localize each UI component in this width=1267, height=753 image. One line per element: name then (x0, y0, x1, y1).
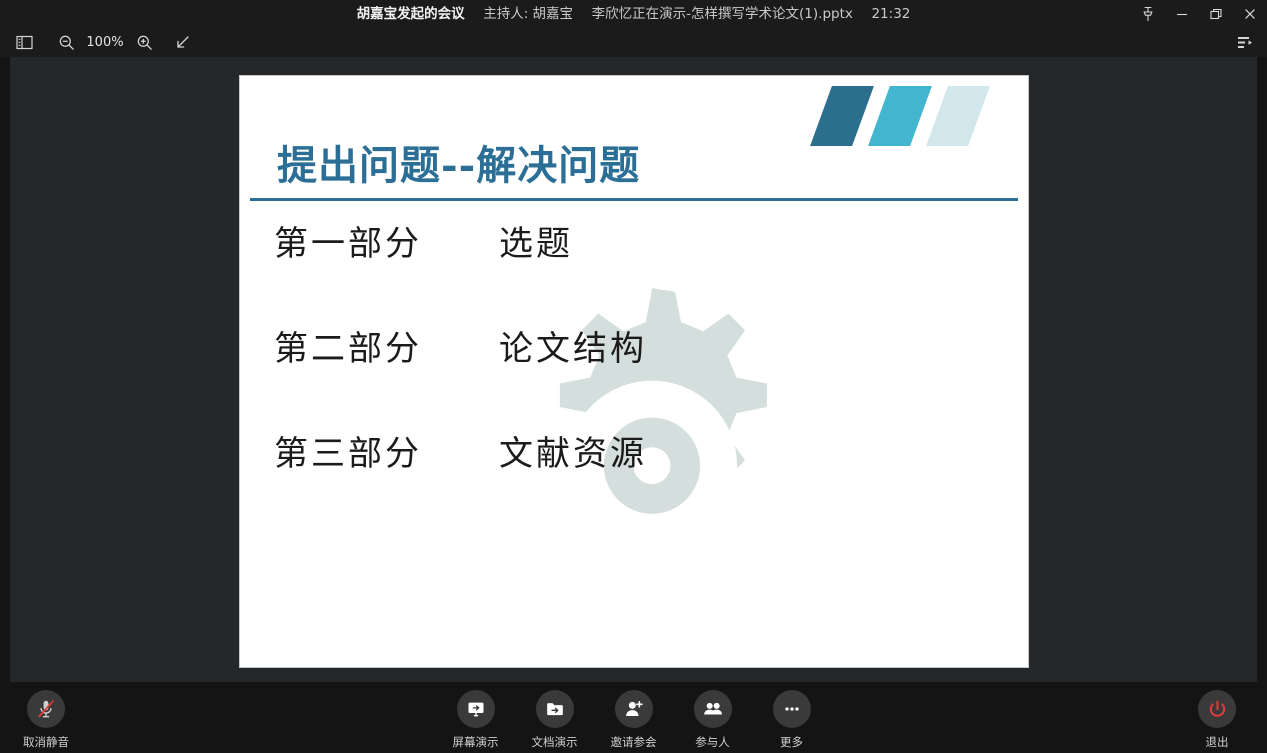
ellipsis-icon (773, 690, 811, 728)
restore-icon[interactable] (1199, 0, 1233, 28)
slide-row-value: 选题 (499, 216, 573, 265)
close-icon[interactable] (1233, 0, 1267, 28)
zoom-level-label: 100% (80, 35, 130, 50)
slide-row-label: 第一部分 (274, 216, 499, 265)
title-bar: 胡嘉宝发起的会议 主持人: 胡嘉宝 李欣忆正在演示-怎样撰写学术论文(1).pp… (0, 0, 1267, 28)
exit-label: 退出 (1206, 734, 1229, 750)
bar-dark (810, 86, 874, 146)
zoom-in-icon[interactable] (130, 28, 158, 57)
folder-share-icon (536, 690, 574, 728)
bar-light (926, 86, 990, 146)
meeting-title: 胡嘉宝发起的会议 (357, 6, 465, 22)
toolbar-right (1231, 28, 1259, 57)
participants-button[interactable]: 参与人 (681, 690, 745, 750)
list-collapse-icon[interactable] (1231, 28, 1259, 57)
shrink-arrow-icon[interactable] (168, 28, 196, 57)
minimize-icon[interactable] (1165, 0, 1199, 28)
pin-icon[interactable] (1131, 0, 1165, 28)
stage-wrapper: 提出问题--解决问题 第一部分 选题 第二部分 论文结构 第三 (0, 57, 1267, 682)
bar-medium (868, 86, 932, 146)
invite-label: 邀请参会 (611, 734, 657, 750)
view-toolbar: 100% (0, 28, 1267, 57)
window-controls (1131, 0, 1267, 28)
more-label: 更多 (780, 734, 803, 750)
screen-share-label: 屏幕演示 (453, 734, 499, 750)
screen-share-icon (457, 690, 495, 728)
document-share-button[interactable]: 文档演示 (523, 690, 587, 750)
presentation-stage: 提出问题--解决问题 第一部分 选题 第二部分 论文结构 第三 (10, 57, 1257, 682)
document-share-label: 文档演示 (532, 734, 578, 750)
slide-row-label: 第三部分 (274, 426, 499, 475)
slide-row-value: 文献资源 (499, 426, 647, 475)
slide-row: 第二部分 论文结构 (240, 321, 1028, 426)
meeting-window: 胡嘉宝发起的会议 主持人: 胡嘉宝 李欣忆正在演示-怎样撰写学术论文(1).pp… (0, 0, 1267, 753)
slide-body: 第一部分 选题 第二部分 论文结构 第三部分 文献资源 (240, 216, 1028, 531)
more-button[interactable]: 更多 (760, 690, 824, 750)
meeting-control-bar: 取消静音 屏幕演示 (0, 682, 1267, 753)
exit-control: 退出 (1185, 690, 1249, 750)
exit-button[interactable]: 退出 (1185, 690, 1249, 750)
sidebar-icon[interactable] (10, 28, 38, 57)
people-icon (694, 690, 732, 728)
meeting-host: 主持人: 胡嘉宝 (483, 6, 573, 22)
zoom-out-icon[interactable] (52, 28, 80, 57)
participants-label: 参与人 (695, 734, 730, 750)
slanted-bars-decoration (821, 86, 1001, 146)
meeting-actions: 屏幕演示 文档演示 (0, 690, 1267, 750)
slide-title-rule (250, 198, 1018, 201)
slide-canvas[interactable]: 提出问题--解决问题 第一部分 选题 第二部分 论文结构 第三 (239, 75, 1029, 668)
person-add-icon (615, 690, 653, 728)
presenting-file: 李欣忆正在演示-怎样撰写学术论文(1).pptx (592, 6, 853, 22)
power-icon (1198, 690, 1236, 728)
slide-row: 第三部分 文献资源 (240, 426, 1028, 531)
invite-button[interactable]: 邀请参会 (602, 690, 666, 750)
slide-row-value: 论文结构 (499, 321, 647, 370)
screen-share-button[interactable]: 屏幕演示 (444, 690, 508, 750)
slide-row: 第一部分 选题 (240, 216, 1028, 321)
meeting-time: 21:32 (871, 6, 910, 22)
slide-title: 提出问题--解决问题 (277, 133, 640, 191)
slide-row-label: 第二部分 (274, 321, 499, 370)
window-title: 胡嘉宝发起的会议 主持人: 胡嘉宝 李欣忆正在演示-怎样撰写学术论文(1).pp… (0, 0, 1267, 28)
